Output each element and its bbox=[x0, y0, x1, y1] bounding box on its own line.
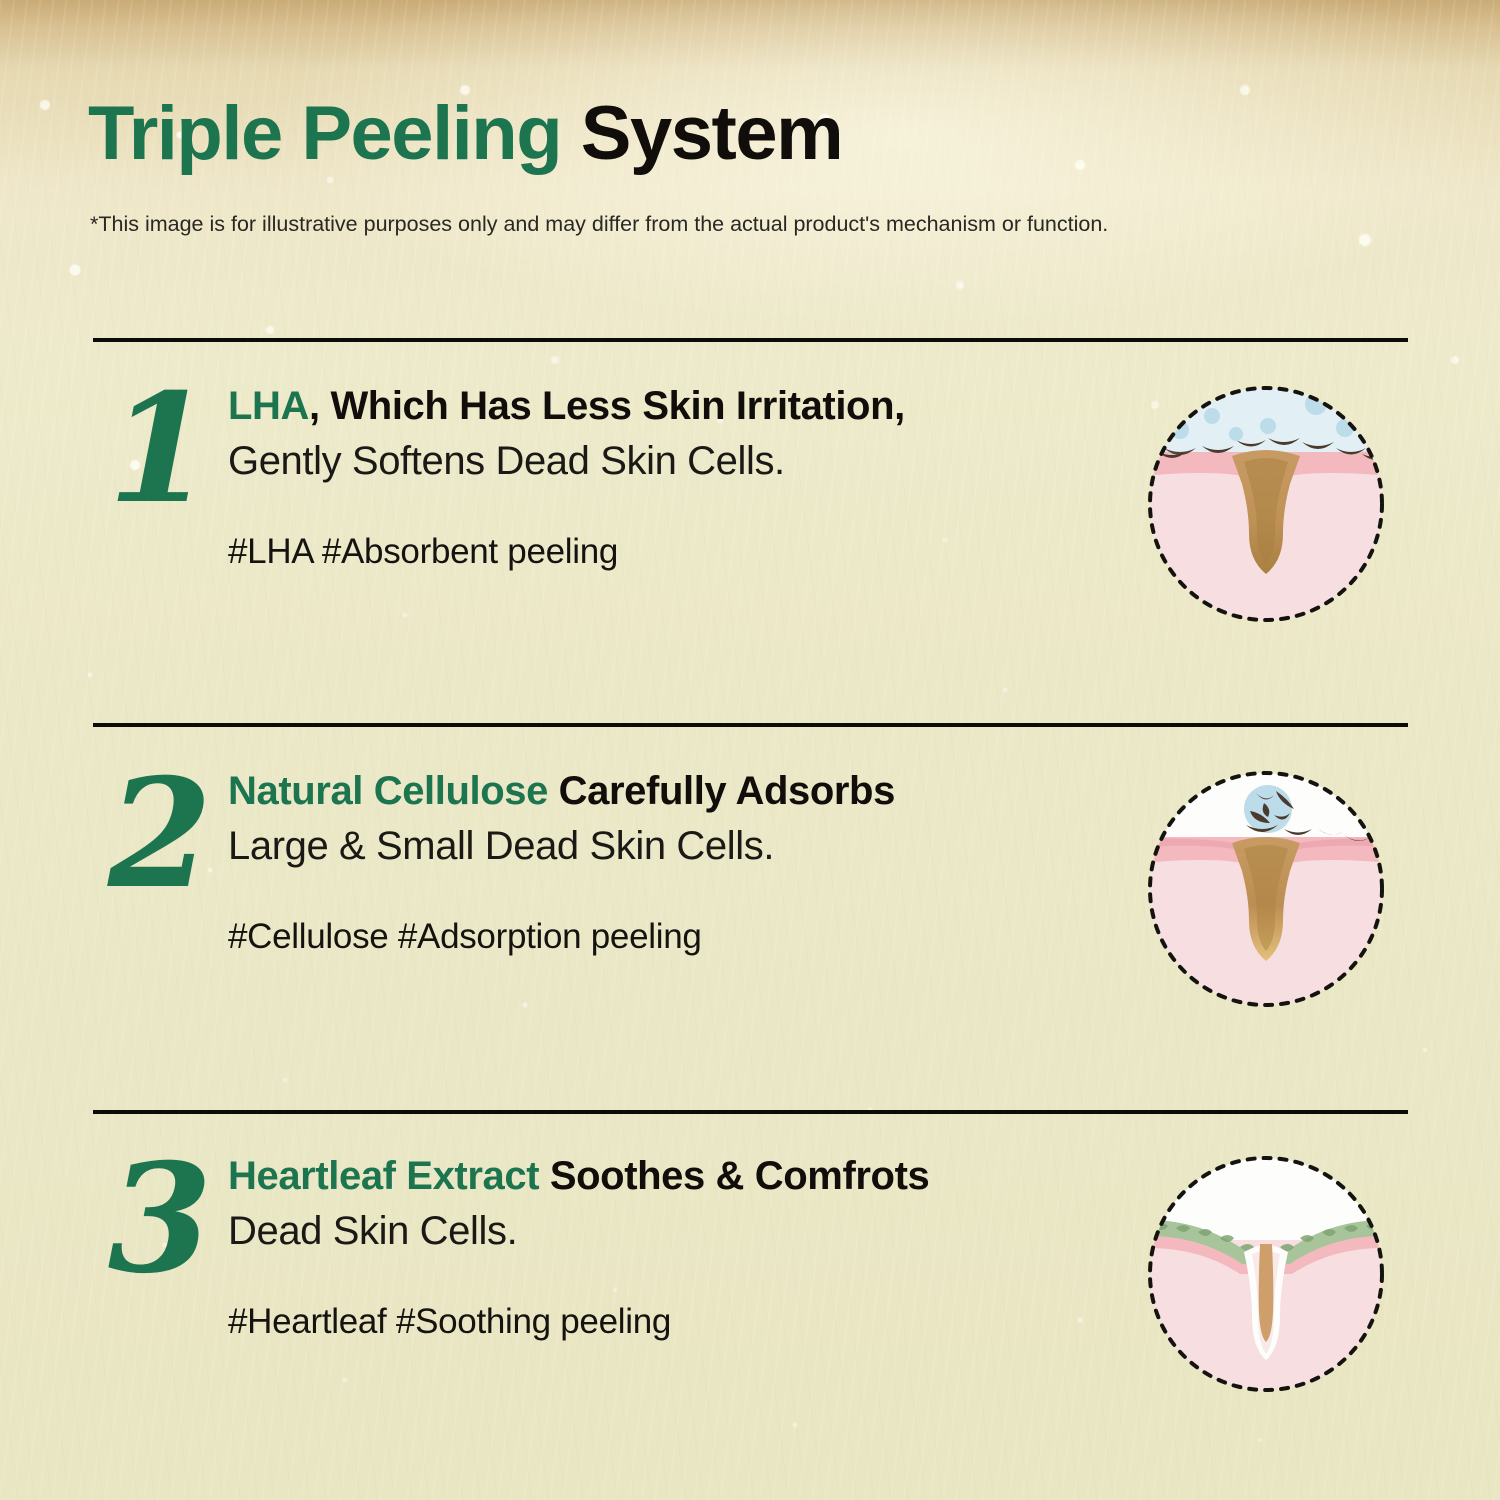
step-text-2: Natural Cellulose Carefully Adsorbs Larg… bbox=[228, 765, 1108, 957]
step-hashtags-3: #Heartleaf #Soothing peeling bbox=[228, 1302, 1108, 1342]
step-number-3: 3 bbox=[100, 1144, 220, 1294]
step-heading-1: LHA, Which Has Less Skin Irritation, bbox=[228, 380, 1108, 434]
step-subheading-3: Dead Skin Cells. bbox=[228, 1205, 1108, 1259]
page-title: Triple Peeling System bbox=[88, 96, 842, 172]
step-heading-3-black: Soothes & Comfrots bbox=[539, 1154, 929, 1198]
step-heading-2-green: Natural Cellulose bbox=[228, 769, 548, 813]
step-subheading-2: Large & Small Dead Skin Cells. bbox=[228, 820, 1108, 874]
step-subheading-1: Gently Softens Dead Skin Cells. bbox=[228, 435, 1108, 489]
step-number-1: 1 bbox=[100, 374, 220, 524]
pore-diagram-lha-softening-icon bbox=[1140, 378, 1392, 630]
step-heading-3-green: Heartleaf Extract bbox=[228, 1154, 539, 1198]
divider-rule-middle bbox=[93, 723, 1408, 727]
content-layer: Triple Peeling System *This image is for… bbox=[0, 0, 1500, 1500]
step-number-2: 2 bbox=[100, 759, 220, 909]
step-heading-3: Heartleaf Extract Soothes & Comfrots bbox=[228, 1150, 1108, 1204]
page-title-green: Triple Peeling bbox=[88, 91, 561, 176]
pore-diagram-cellulose-adsorption-icon bbox=[1140, 763, 1392, 1015]
step-text-1: LHA, Which Has Less Skin Irritation, Gen… bbox=[228, 380, 1108, 572]
step-hashtags-2: #Cellulose #Adsorption peeling bbox=[228, 917, 1108, 957]
step-text-3: Heartleaf Extract Soothes & Comfrots Dea… bbox=[228, 1150, 1108, 1342]
page-title-black: System bbox=[581, 91, 842, 176]
step-hashtags-1: #LHA #Absorbent peeling bbox=[228, 532, 1108, 572]
step-heading-2-black: Carefully Adsorbs bbox=[548, 769, 895, 813]
infographic-page: Triple Peeling System *This image is for… bbox=[0, 0, 1500, 1500]
pore-diagram-heartleaf-soothing-icon bbox=[1140, 1148, 1392, 1400]
divider-rule-bottom bbox=[93, 1110, 1408, 1114]
disclaimer-text: *This image is for illustrative purposes… bbox=[90, 212, 1108, 237]
step-heading-2: Natural Cellulose Carefully Adsorbs bbox=[228, 765, 1108, 819]
step-heading-1-black: , Which Has Less Skin Irritation, bbox=[309, 384, 905, 428]
step-heading-1-green: LHA bbox=[228, 384, 309, 428]
page-title-black-spacer bbox=[561, 91, 581, 176]
divider-rule-top bbox=[93, 338, 1408, 342]
